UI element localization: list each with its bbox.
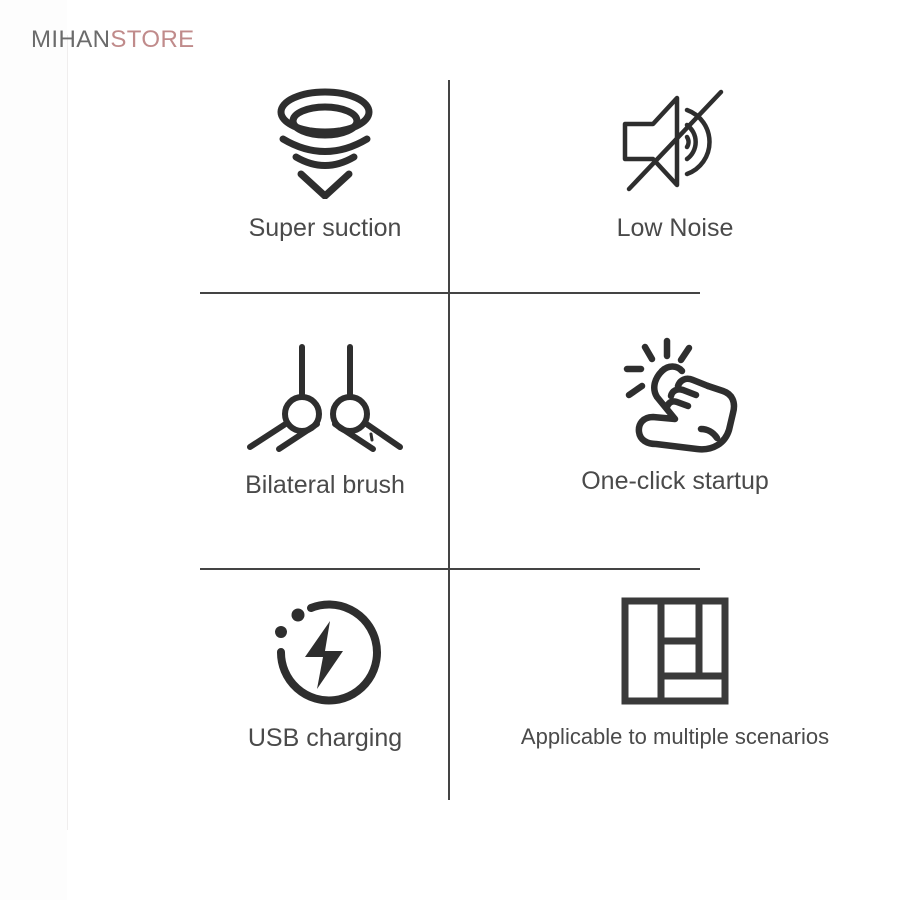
brand-name-primary: MIHAN bbox=[31, 26, 110, 53]
feature-row-3: USB charging Applicable to multiple scen… bbox=[150, 566, 850, 819]
feature-label: Applicable to multiple scenarios bbox=[521, 726, 829, 748]
dual-brush-icon bbox=[245, 323, 405, 473]
feature-row-1: Super suction Low Noise bbox=[150, 60, 850, 313]
feature-label: Super suction bbox=[249, 216, 402, 241]
feature-row-2: Bilateral brush bbox=[150, 313, 850, 566]
feature-cell-super-suction: Super suction bbox=[150, 60, 500, 313]
brand-logo: MIHANSTORE bbox=[31, 26, 195, 54]
feature-cell-one-click-startup: One-click startup bbox=[500, 313, 850, 566]
feature-cell-usb-charging: USB charging bbox=[150, 566, 500, 819]
feature-label: One-click startup bbox=[581, 469, 769, 494]
page-edge-line bbox=[67, 35, 68, 830]
page-left-tint bbox=[0, 0, 67, 900]
brand-name-secondary: STORE bbox=[110, 26, 194, 53]
battery-bolt-icon bbox=[267, 576, 383, 726]
feature-label: Low Noise bbox=[617, 216, 734, 241]
feature-cell-bilateral-brush: Bilateral brush bbox=[150, 313, 500, 566]
muted-speaker-icon bbox=[613, 66, 738, 216]
feature-label: USB charging bbox=[248, 726, 402, 751]
tornado-suction-icon bbox=[265, 66, 385, 216]
feature-label: Bilateral brush bbox=[245, 473, 405, 498]
feature-grid: Super suction Low Noise bbox=[150, 60, 850, 820]
feature-cell-low-noise: Low Noise bbox=[500, 60, 850, 313]
pointing-hand-tap-icon bbox=[605, 319, 745, 469]
feature-cell-multiple-scenarios: Applicable to multiple scenarios bbox=[500, 566, 850, 819]
floor-plan-icon bbox=[620, 576, 730, 726]
